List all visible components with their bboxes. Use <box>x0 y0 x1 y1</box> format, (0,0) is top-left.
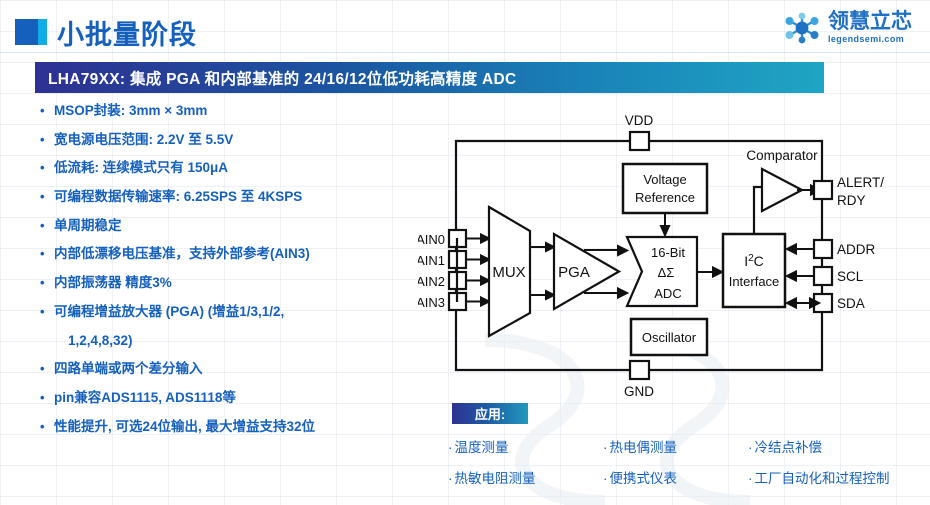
slide-root: 小批量阶段 领慧立芯 legendsemi.com LHA79XX: 集成 PG… <box>0 0 930 505</box>
application-item: ·冷结点补偿 <box>748 436 926 456</box>
diagram-label-gnd: GND <box>624 384 654 399</box>
page-title: 小批量阶段 <box>57 13 197 52</box>
application-marker-icon: · <box>603 440 608 455</box>
bullet-icon: • <box>40 305 54 318</box>
feature-item-label: MSOP封装: 3mm × 3mm <box>54 104 440 118</box>
diagram-label-alert: ALERT/ <box>837 175 884 190</box>
diagram-label-ain0: AIN0 <box>418 232 445 247</box>
application-marker-icon: · <box>748 440 753 455</box>
title-marker-strip <box>38 19 47 45</box>
molecule-network-icon <box>782 12 822 44</box>
application-marker-icon: · <box>448 440 453 455</box>
logo-text: 领慧立芯 legendsemi.com <box>828 11 912 44</box>
application-marker-icon: · <box>603 471 608 486</box>
bullet-icon: • <box>40 391 54 404</box>
application-item-label: 热敏电阻测量 <box>455 471 536 486</box>
feature-item-label: 内部振荡器 精度3% <box>54 276 440 290</box>
feature-item: •四路单端或两个差分输入 <box>40 362 440 376</box>
diagram-label-ain3: AIN3 <box>418 295 445 310</box>
feature-list: •MSOP封装: 3mm × 3mm•宽电源电压范围: 2.2V 至 5.5V•… <box>40 104 440 448</box>
feature-item: •pin兼容ADS1115, ADS1118等 <box>40 391 440 405</box>
diagram-label-sda: SDA <box>837 296 865 311</box>
feature-item: •1,2,4,8,32) <box>54 334 440 348</box>
diagram-label-scl: SCL <box>837 269 864 284</box>
logo-domain: legendsemi.com <box>828 35 912 44</box>
application-item-label: 冷结点补偿 <box>755 440 823 455</box>
feature-item: •内部低漂移电压基准，支持外部参考(AIN3) <box>40 247 440 261</box>
bullet-icon: • <box>40 104 54 117</box>
diagram-block-pga: PGA <box>558 264 590 281</box>
adc-block-diagram: VDD GND AIN0 AIN1 AIN2 AIN3 <box>418 108 918 401</box>
diagram-block-vref-line1: Voltage <box>643 172 686 187</box>
feature-item: •低流耗: 连续模式只有 150μA <box>40 161 440 175</box>
feature-item: •可编程数据传输速率: 6.25SPS 至 4KSPS <box>40 190 440 204</box>
diagram-block-adc-line3: ADC <box>654 286 681 301</box>
diagram-block-adc-line1: 16-Bit <box>651 245 685 260</box>
application-item: ·便携式仪表 <box>603 467 748 487</box>
title-marker-icon <box>15 19 47 45</box>
bullet-icon: • <box>40 362 54 375</box>
bullet-icon: • <box>40 247 54 260</box>
diagram-label-ain2: AIN2 <box>418 274 445 289</box>
feature-item: •性能提升, 可选24位输出, 最大增益支持32位 <box>40 420 440 434</box>
feature-item-label: 性能提升, 可选24位输出, 最大增益支持32位 <box>54 420 440 434</box>
application-item-label: 热电偶测量 <box>610 440 678 455</box>
feature-item-label: 低流耗: 连续模式只有 150μA <box>54 161 440 175</box>
feature-item: •MSOP封装: 3mm × 3mm <box>40 104 440 118</box>
feature-item-label: 1,2,4,8,32) <box>68 334 440 348</box>
application-marker-icon: · <box>448 471 453 486</box>
feature-item-label: pin兼容ADS1115, ADS1118等 <box>54 391 440 405</box>
logo-name-cn: 领慧立芯 <box>828 11 912 32</box>
feature-item-label: 可编程数据传输速率: 6.25SPS 至 4KSPS <box>54 190 440 204</box>
diagram-block-comparator: Comparator <box>746 148 818 163</box>
bullet-icon: • <box>40 133 54 146</box>
diagram-label-vdd: VDD <box>625 113 654 128</box>
application-item: ·温度测量 <box>448 436 603 456</box>
feature-item-label: 宽电源电压范围: 2.2V 至 5.5V <box>54 133 440 147</box>
application-item-label: 便携式仪表 <box>610 471 678 486</box>
application-marker-icon: · <box>748 471 753 486</box>
application-item-label: 温度测量 <box>455 440 509 455</box>
feature-item-label: 内部低漂移电压基准，支持外部参考(AIN3) <box>54 247 440 261</box>
diagram-block-mux: MUX <box>492 264 525 281</box>
application-item: ·热敏电阻测量 <box>448 467 603 487</box>
product-subtitle-text: LHA79XX: 集成 PGA 和内部基准的 24/16/12位低功耗高精度 A… <box>48 67 517 89</box>
diagram-block-adc-line2: ΔΣ <box>658 265 675 280</box>
diagram-block-oscillator: Oscillator <box>642 330 697 345</box>
title-divider <box>0 52 930 53</box>
bullet-icon: • <box>40 219 54 232</box>
application-item: ·工厂自动化和过程控制 <box>748 467 926 487</box>
diagram-label-addr: ADDR <box>837 242 876 257</box>
bullet-icon: • <box>40 276 54 289</box>
bullet-icon: • <box>40 190 54 203</box>
application-item: ·热电偶测量 <box>603 436 748 456</box>
feature-item-label: 单周期稳定 <box>54 219 440 233</box>
feature-item: •宽电源电压范围: 2.2V 至 5.5V <box>40 133 440 147</box>
applications-label: 应用: <box>452 403 528 424</box>
applications-label-text: 应用: <box>475 404 505 423</box>
bullet-icon: • <box>40 420 54 433</box>
feature-item: •内部振荡器 精度3% <box>40 276 440 290</box>
svg-text:I2C: I2C <box>744 253 764 269</box>
diagram-block-vref-line2: Reference <box>635 190 695 205</box>
diagram-label-ain1: AIN1 <box>418 253 445 268</box>
product-subtitle-bar: LHA79XX: 集成 PGA 和内部基准的 24/16/12位低功耗高精度 A… <box>35 62 824 93</box>
feature-item: •可编程增益放大器 (PGA) (增益1/3,1/2, <box>40 305 440 319</box>
feature-item-label: 可编程增益放大器 (PGA) (增益1/3,1/2, <box>54 305 440 319</box>
brand-logo: 领慧立芯 legendsemi.com <box>782 11 912 44</box>
diagram-block-i2c-interface: Interface <box>729 274 780 289</box>
application-item-label: 工厂自动化和过程控制 <box>755 471 890 486</box>
feature-item: •单周期稳定 <box>40 219 440 233</box>
applications-grid: ·温度测量·热电偶测量·冷结点补偿·热敏电阻测量·便携式仪表·工厂自动化和过程控… <box>448 436 926 487</box>
diagram-label-rdy: RDY <box>837 193 866 208</box>
bullet-icon: • <box>40 161 54 174</box>
diagram-block-i2c-c: C <box>754 253 764 269</box>
feature-item-label: 四路单端或两个差分输入 <box>54 362 440 376</box>
